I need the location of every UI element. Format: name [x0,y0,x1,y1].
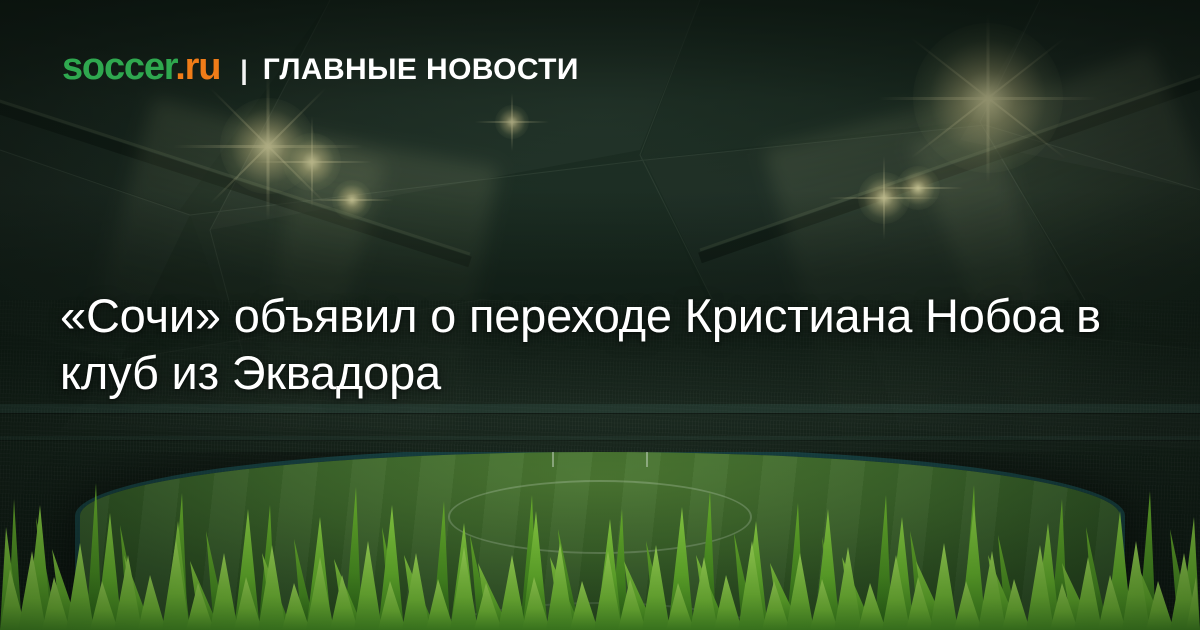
section-label: ГЛАВНЫЕ НОВОСТИ [263,55,579,85]
site-logo[interactable]: soccer.ru [62,48,220,86]
masthead-separator: | [240,57,248,84]
site-logo-tld: .ru [175,46,220,88]
masthead[interactable]: soccer.ru | ГЛАВНЫЕ НОВОСТИ [62,48,579,86]
card-content: soccer.ru | ГЛАВНЫЕ НОВОСТИ «Сочи» объяв… [0,0,1200,630]
site-logo-name: soccer [62,46,175,88]
share-card: soccer.ru | ГЛАВНЫЕ НОВОСТИ «Сочи» объяв… [0,0,1200,630]
page-title: «Сочи» объявил о переходе Кристиана Нобо… [60,287,1150,401]
